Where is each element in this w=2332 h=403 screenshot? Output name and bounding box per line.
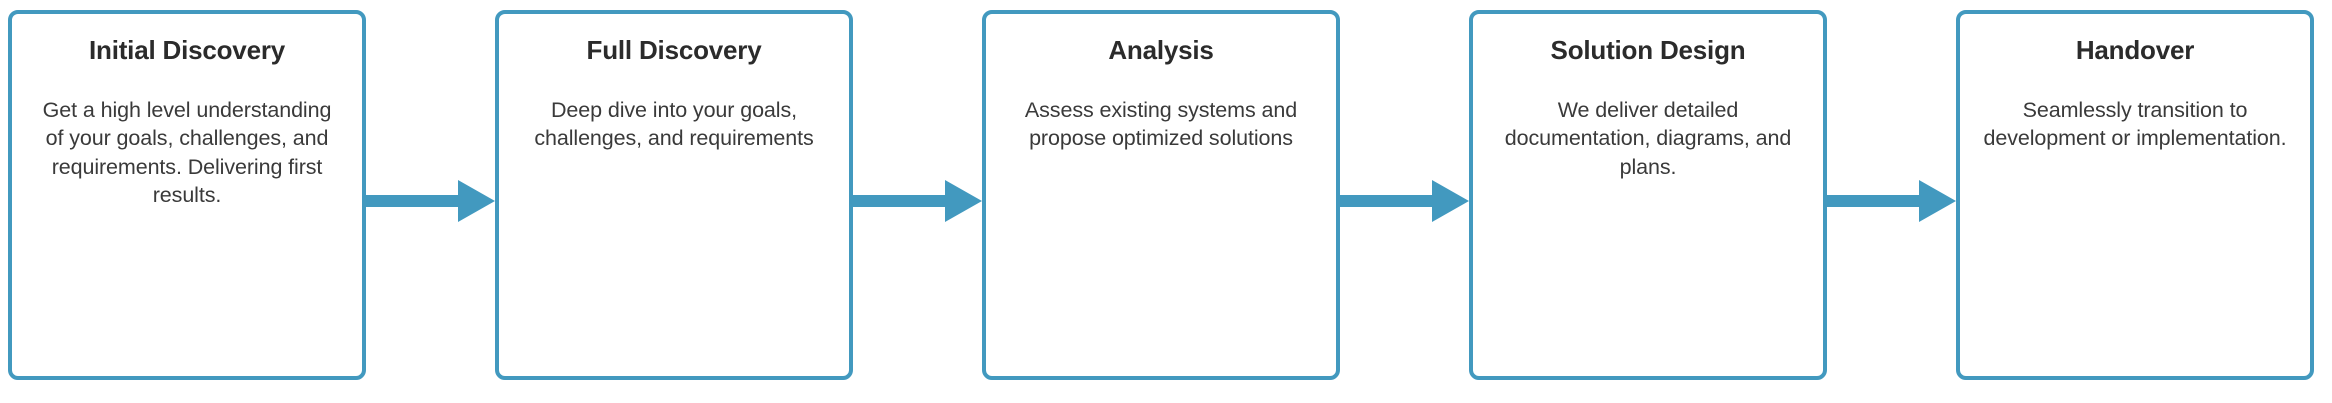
process-step-card-3[interactable]: Analysis Assess existing systems and pro… <box>982 10 1340 380</box>
step-description: Deep dive into your goals, challenges, a… <box>519 96 829 153</box>
step-description: Assess existing systems and propose opti… <box>1006 96 1316 153</box>
step-description: Get a high level understanding of your g… <box>32 96 342 210</box>
step-title: Handover <box>2076 36 2194 66</box>
step-title: Analysis <box>1108 36 1213 66</box>
step-description: We deliver detailed documentation, diagr… <box>1493 96 1803 182</box>
connector-1-to-2 <box>366 10 495 380</box>
connector-2-to-3 <box>853 10 982 380</box>
arrow-right-icon <box>853 180 982 222</box>
arrow-right-icon <box>366 180 495 222</box>
arrow-right-icon <box>1340 180 1469 222</box>
arrow-right-icon <box>1827 180 1956 222</box>
connector-3-to-4 <box>1340 10 1469 380</box>
process-step-card-4[interactable]: Solution Design We deliver detailed docu… <box>1469 10 1827 380</box>
connector-4-to-5 <box>1827 10 1956 380</box>
step-title: Full Discovery <box>587 36 762 66</box>
process-step-card-1[interactable]: Initial Discovery Get a high level under… <box>8 10 366 380</box>
process-step-card-5[interactable]: Handover Seamlessly transition to develo… <box>1956 10 2314 380</box>
process-flow-diagram: Initial Discovery Get a high level under… <box>0 0 2332 403</box>
step-description: Seamlessly transition to development or … <box>1980 96 2290 153</box>
process-step-card-2[interactable]: Full Discovery Deep dive into your goals… <box>495 10 853 380</box>
step-title: Solution Design <box>1551 36 1746 66</box>
step-title: Initial Discovery <box>89 36 285 66</box>
